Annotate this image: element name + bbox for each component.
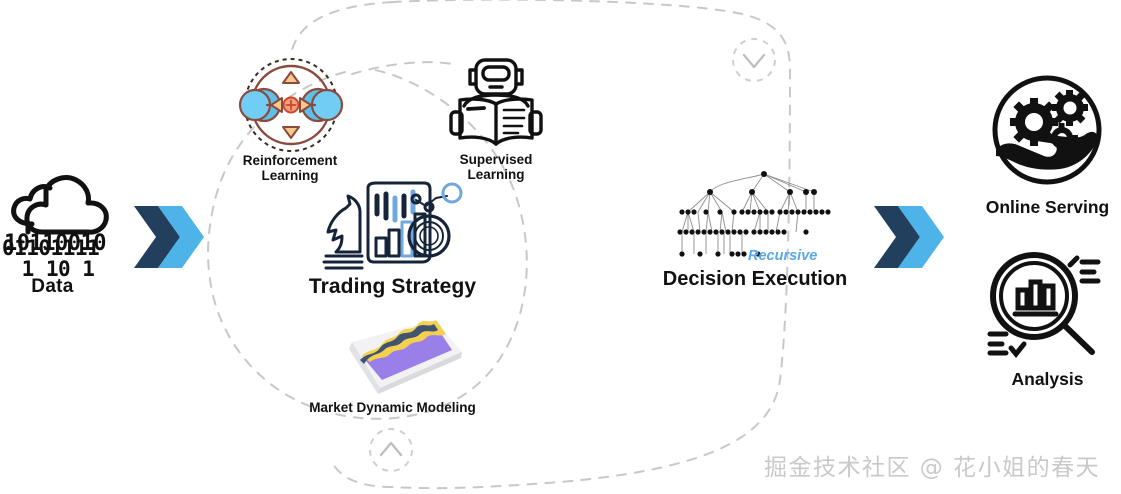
- data-binary-text: 01101111 1 10 1: [2, 238, 114, 279]
- loop-top-marker: [728, 34, 780, 86]
- trading-strategy-icon: [316, 182, 466, 274]
- analysis-label: Analysis: [975, 370, 1120, 390]
- binary-row-2: 01101111: [2, 238, 114, 259]
- diagram-canvas: 10110010 01101111 1 10 1 Data Reinforcem…: [0, 0, 1121, 494]
- supervised-learning-icon: [442, 50, 550, 150]
- reinforcement-learning-label: Reinforcement Learning: [225, 153, 355, 183]
- chevron-down-icon: [744, 55, 764, 67]
- arrow-data-to-strategy: [132, 202, 204, 272]
- data-label: Data: [0, 276, 105, 297]
- market-dynamic-modeling-label: Market Dynamic Modeling: [295, 400, 490, 415]
- arrow-decision-to-serving: [872, 202, 944, 272]
- chevron-up-icon: [381, 443, 401, 455]
- loop-bottom-marker: [365, 424, 417, 476]
- supervised-learning-label: Supervised Learning: [432, 152, 560, 182]
- online-serving-label: Online Serving: [965, 198, 1121, 218]
- recursive-annotation: Recursive: [748, 248, 838, 264]
- watermark-text: 掘金技术社区 @ 花小姐的春天: [764, 448, 1100, 482]
- online-serving-icon: [986, 72, 1108, 192]
- trading-strategy-label: Trading Strategy: [295, 275, 490, 299]
- decision-execution-label: Decision Execution: [650, 268, 860, 290]
- reinforcement-learning-icon: [231, 55, 351, 155]
- analysis-icon: [984, 248, 1104, 366]
- market-dynamic-modeling-icon: [322, 312, 466, 398]
